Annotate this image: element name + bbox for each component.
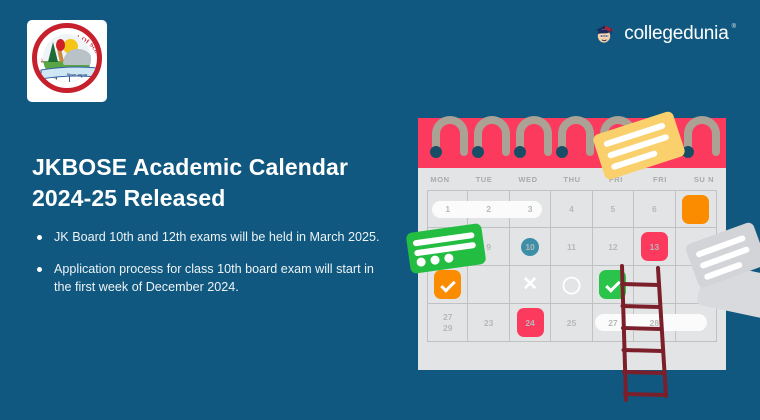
calendar-cell: 27 29 — [427, 304, 468, 342]
emblem-ring: Jammu & Kashmir Board Of School Educatio… — [32, 23, 102, 93]
graduate-face-icon — [593, 21, 617, 45]
calendar-cell: 25 — [551, 304, 592, 342]
day-number: 3 — [528, 204, 533, 214]
day-number: 6 — [652, 204, 657, 214]
building-icon — [63, 49, 91, 65]
calendar-cell: ◯ — [551, 266, 592, 304]
calendar-cell: 13 — [634, 228, 675, 266]
event-marker-orange — [682, 195, 709, 224]
day-name: WED — [506, 175, 550, 184]
day-number: 9 — [486, 242, 491, 252]
calendar-cell: 23 — [468, 304, 509, 342]
jkbose-emblem-icon: Jammu & Kashmir Board Of School Educatio… — [27, 20, 107, 102]
circle-icon: ◯ — [562, 276, 581, 293]
day-number: 24 — [525, 318, 534, 328]
day-number: 1 — [445, 204, 450, 214]
calendar-cell: 24 — [510, 304, 551, 342]
day-name: TUE — [462, 175, 506, 184]
emblem-banner: विद्यया अमृतम — [39, 64, 102, 84]
card-dot — [444, 253, 454, 263]
day-number: 5 — [611, 204, 616, 214]
collegedunia-logo[interactable]: collegedunia ® — [593, 20, 736, 46]
calendar-cell: ✕ — [510, 266, 551, 304]
day-number: 10 — [525, 242, 534, 252]
promo-banner: Jammu & Kashmir Board Of School Educatio… — [0, 0, 760, 420]
day-number: 23 — [484, 318, 493, 328]
day-number: 2 — [486, 204, 491, 214]
calendar-day-names: MON TUE WED THU FRI FRI SU N — [418, 168, 726, 190]
calendar-cell: 6 — [634, 190, 675, 228]
calendar-cell: 4 — [551, 190, 592, 228]
day-number: 12 — [608, 242, 617, 252]
calendar-cell: 11 — [551, 228, 592, 266]
list-item: Application process for class 10th board… — [33, 260, 393, 297]
day-name: SU N — [682, 175, 726, 184]
calendar-cell — [427, 266, 468, 304]
day-name: MON — [418, 175, 462, 184]
svg-text:विद्यया अमृतम: विद्यया अमृतम — [67, 73, 88, 79]
trademark-symbol: ® — [732, 24, 736, 30]
day-number: 13 — [650, 242, 659, 252]
calendar-cell: 5 — [593, 190, 634, 228]
day-name: FRI — [638, 175, 682, 184]
highlights-list: JK Board 10th and 12th exams will be hel… — [33, 228, 393, 310]
day-name: THU — [550, 175, 594, 184]
card-dot — [430, 255, 440, 265]
calendar-cell — [676, 190, 717, 228]
list-item: JK Board 10th and 12th exams will be hel… — [33, 228, 393, 247]
calendar-cell: 12 — [593, 228, 634, 266]
day-number: 25 — [567, 318, 576, 328]
calendar-cell — [468, 266, 509, 304]
brand-name: collegedunia — [624, 24, 728, 43]
flame-icon — [56, 39, 65, 51]
cross-icon: ✕ — [522, 275, 538, 294]
calendar-cell: 1 — [427, 190, 468, 228]
day-number: 11 — [567, 242, 576, 252]
card-dot — [416, 257, 426, 267]
ladder-icon — [614, 262, 674, 407]
page-title: JKBOSE Academic Calendar 2024-25 Release… — [32, 152, 402, 213]
day-number: 4 — [569, 204, 574, 214]
calendar-cell: 10 — [510, 228, 551, 266]
day-number: 27 29 — [443, 312, 452, 333]
